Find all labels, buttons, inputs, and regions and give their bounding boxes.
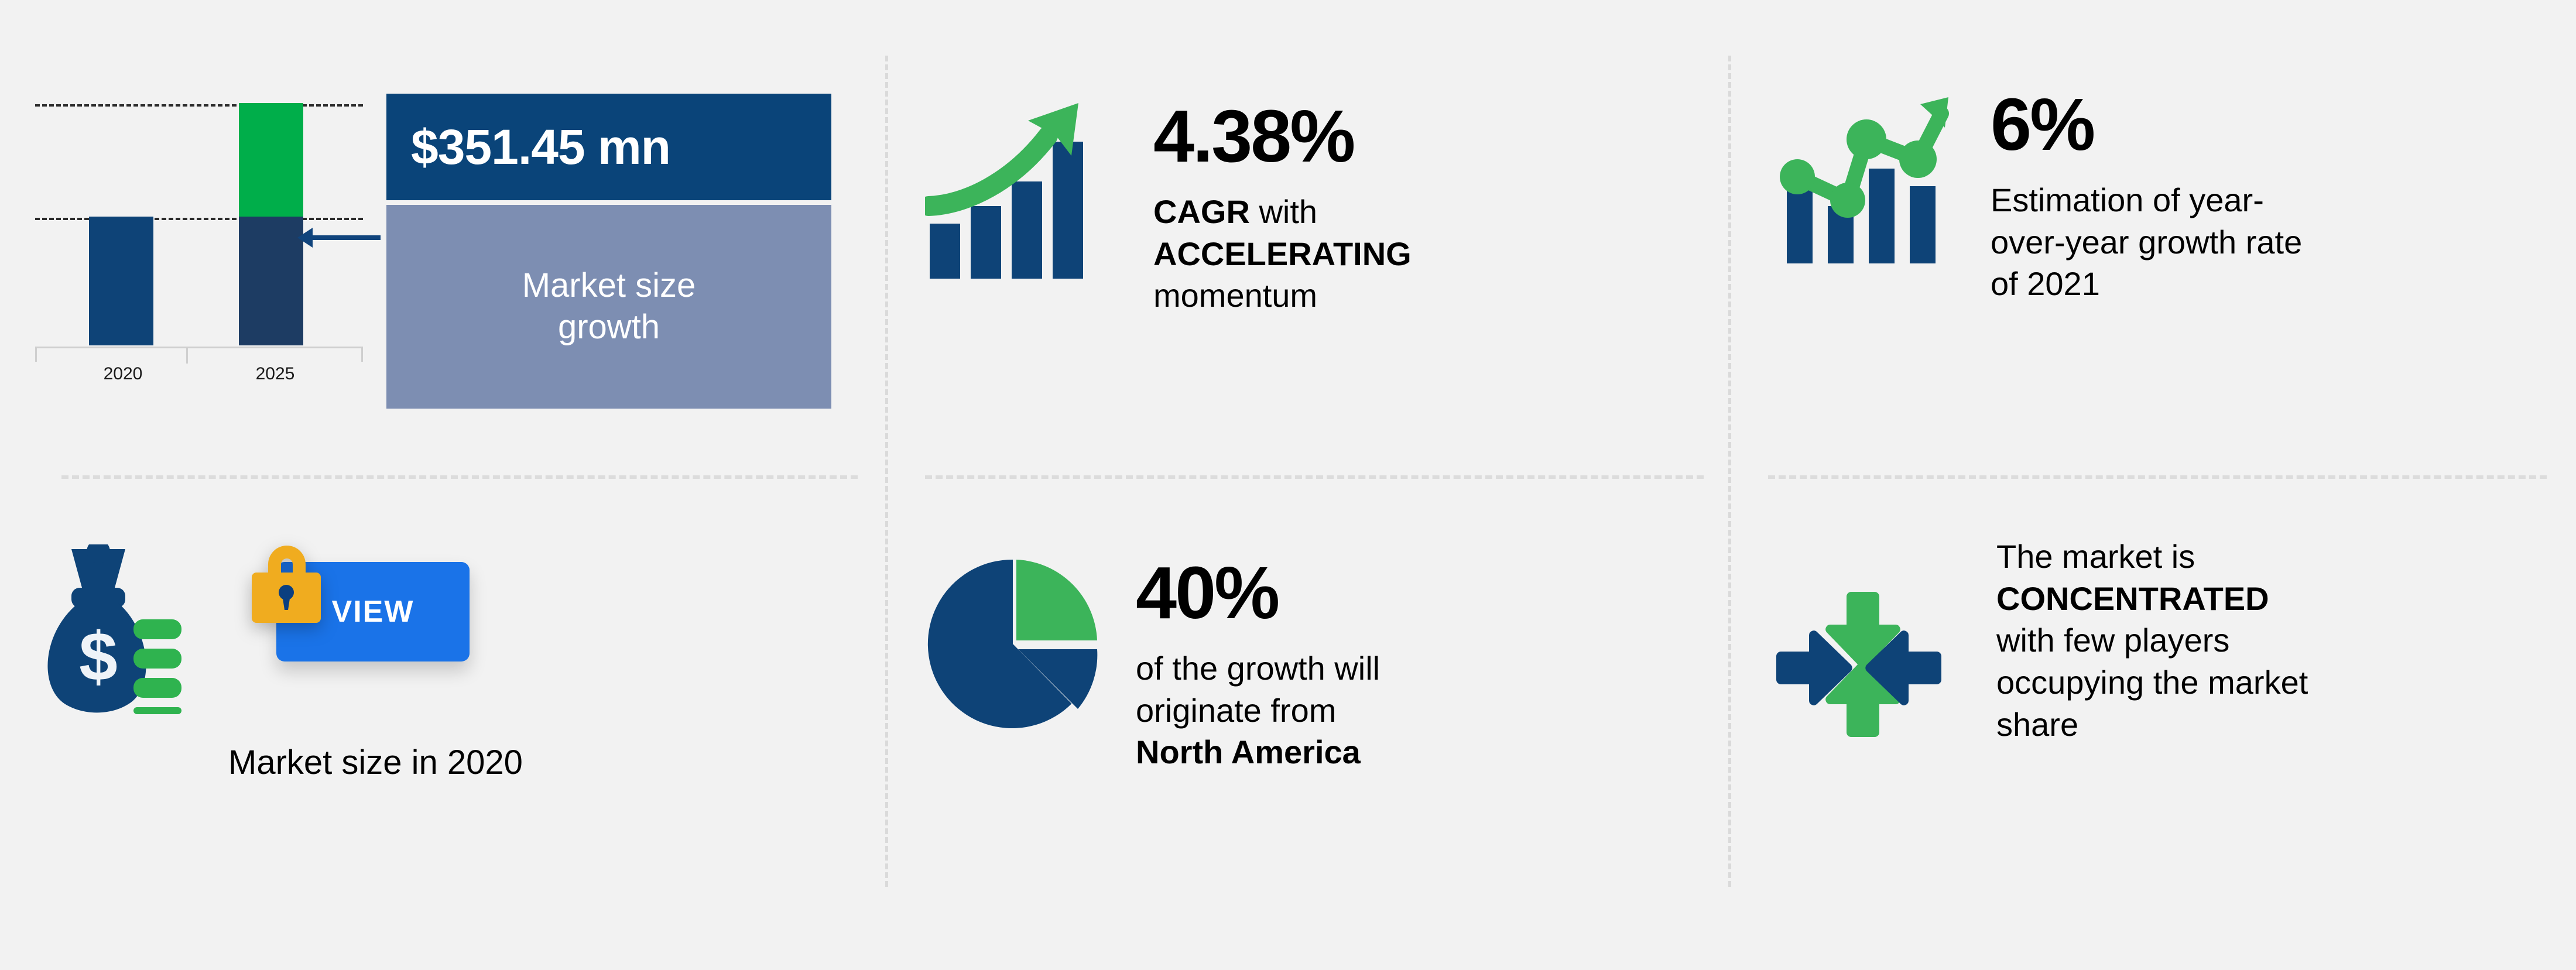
callout-label-box: Market size growth <box>386 205 831 409</box>
x-axis-label-2020: 2020 <box>76 364 170 384</box>
vertical-divider-left <box>885 56 888 887</box>
callout-value-box: $351.45 mn <box>386 94 831 200</box>
yoy-line-3: of 2021 <box>1991 263 2553 305</box>
region-line-2: originate from <box>1136 690 1704 732</box>
concentration-line-2-bold: CONCENTRATED <box>1996 580 2269 617</box>
callout-label-line1: Market size <box>522 265 696 307</box>
yoy-description: Estimation of year- over-year growth rat… <box>1991 179 2553 305</box>
region-line-1: of the growth will <box>1136 647 1704 690</box>
cagr-value: 4.38% <box>1153 100 1704 173</box>
bar-2025-growth <box>239 103 303 217</box>
horizontal-divider-col1 <box>61 475 858 479</box>
growth-arrow-bar-chart-icon <box>925 100 1101 284</box>
market-size-2020-panel: $ VIEW <box>35 544 855 782</box>
bar-2025-base <box>239 217 303 345</box>
callout-connector-line <box>309 235 381 240</box>
concentration-line-3: with few players <box>1996 619 2553 661</box>
horizontal-divider-col2 <box>925 475 1704 479</box>
x-axis-label-2025: 2025 <box>228 364 322 384</box>
market-size-2020-caption: Market size in 2020 <box>228 743 855 782</box>
converging-arrows-icon <box>1774 588 1944 743</box>
concentration-line-5: share <box>1996 704 2553 746</box>
callout-connector-arrowhead <box>297 228 313 248</box>
cagr-panel: 4.38% CAGR with ACCELERATING momentum <box>925 100 1704 317</box>
region-growth-value: 40% <box>1136 556 1704 630</box>
axis-tick <box>186 348 188 364</box>
pie-chart-icon <box>925 556 1101 735</box>
line-chart-arrow-icon <box>1774 88 1950 266</box>
yoy-value: 6% <box>1991 88 2553 162</box>
region-growth-description: of the growth will originate from North … <box>1136 647 1704 773</box>
region-growth-panel: 40% of the growth will originate from No… <box>925 556 1704 773</box>
x-axis <box>35 347 363 362</box>
money-bag-icon: $ <box>35 544 181 717</box>
callout-label-line2: growth <box>558 307 660 348</box>
concentration-line-4: occupying the market <box>1996 661 2553 704</box>
concentration-line-1: The market is <box>1996 536 2553 578</box>
cagr-description: CAGR with ACCELERATING momentum <box>1153 191 1704 317</box>
cagr-bold-cagr: CAGR <box>1153 193 1250 230</box>
market-size-growth-panel: 2020 2025 $351.45 mn Market size growth <box>0 0 885 475</box>
cagr-text-block: 4.38% CAGR with ACCELERATING momentum <box>1153 100 1704 317</box>
yoy-line-2: over-year growth rate <box>1991 221 2553 263</box>
concentration-text-block: The market is CONCENTRATED with few play… <box>1996 536 2553 745</box>
gridline-lower <box>35 218 363 220</box>
bar-2020 <box>89 217 153 345</box>
vertical-divider-right <box>1728 56 1731 887</box>
yoy-growth-panel: 6% Estimation of year- over-year growth … <box>1774 88 2553 305</box>
market-size-callout: $351.45 mn Market size growth <box>386 94 831 409</box>
cagr-with-word: with <box>1259 193 1317 230</box>
concentration-description: The market is CONCENTRATED with few play… <box>1996 536 2553 745</box>
callout-value-text: $351.45 mn <box>411 119 670 176</box>
market-size-bar-chart: 2020 2025 <box>35 88 410 416</box>
gridline-upper <box>35 104 363 107</box>
market-concentration-panel: The market is CONCENTRATED with few play… <box>1774 536 2553 745</box>
cagr-momentum: momentum <box>1153 275 1704 317</box>
yoy-text-block: 6% Estimation of year- over-year growth … <box>1991 88 2553 305</box>
view-button-wrapper[interactable]: VIEW <box>246 562 470 661</box>
view-button-label: VIEW <box>332 594 415 629</box>
padlock-icon <box>246 539 328 629</box>
region-line-3-bold: North America <box>1136 734 1361 770</box>
svg-text:$: $ <box>79 618 118 695</box>
horizontal-divider-col3 <box>1768 475 2547 479</box>
infographic-board: 2020 2025 $351.45 mn Market size growth <box>0 0 2576 970</box>
yoy-line-1: Estimation of year- <box>1991 179 2553 221</box>
cagr-bold-accelerating: ACCELERATING <box>1153 235 1412 272</box>
region-growth-text-block: 40% of the growth will originate from No… <box>1136 556 1704 773</box>
